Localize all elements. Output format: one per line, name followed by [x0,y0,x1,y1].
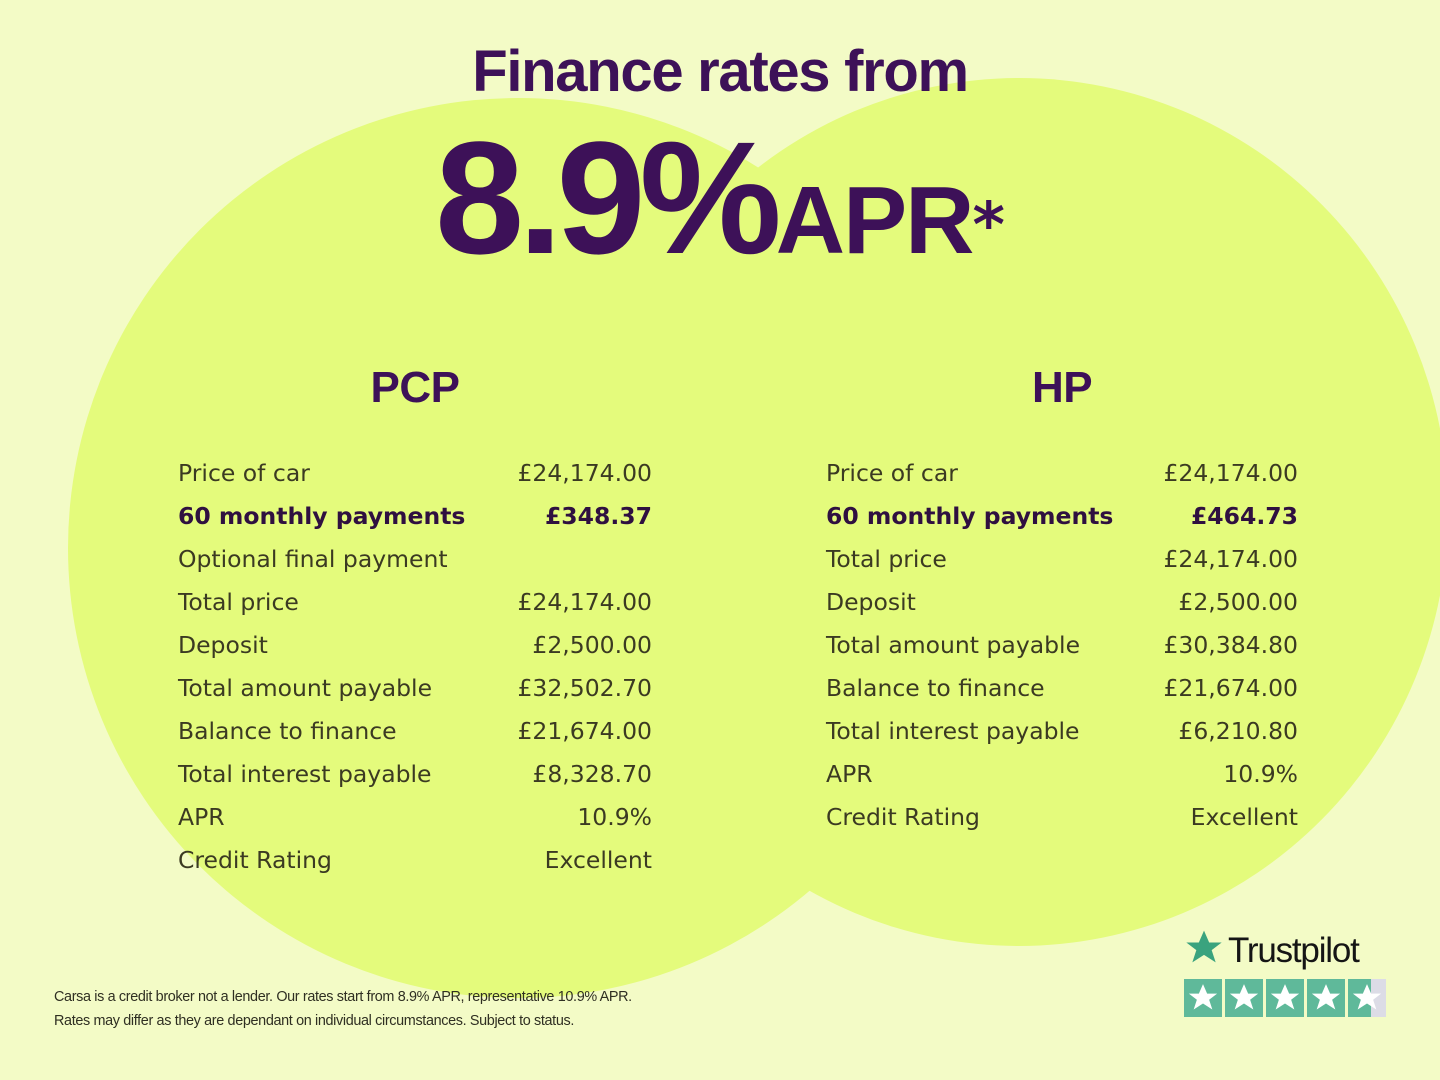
finance-row-label: Total price [178,581,299,624]
finance-row: Total interest payable£6,210.80 [826,710,1298,753]
finance-row-label: Total interest payable [826,710,1080,753]
finance-row-value: Excellent [545,839,652,882]
star-glyph-icon [1310,982,1342,1014]
finance-row: Credit RatingExcellent [178,839,652,882]
finance-row: Price of car£24,174.00 [826,452,1298,495]
finance-row-label: 60 monthly payments [826,495,1113,538]
finance-row-value: £21,674.00 [1163,667,1298,710]
trustpilot-star-icon [1184,928,1224,972]
legal-disclaimer: Carsa is a credit broker not a lender. O… [54,985,814,1033]
finance-row-value: £30,384.80 [1163,624,1298,667]
finance-row: Balance to finance£21,674.00 [178,710,652,753]
finance-row: Total price£24,174.00 [826,538,1298,581]
finance-rows-hp: Price of car£24,174.0060 monthly payment… [826,452,1298,839]
star-glyph-icon [1351,982,1383,1014]
finance-row-value: £2,500.00 [532,624,652,667]
finance-plan-pcp: PCP Price of car£24,174.0060 monthly pay… [178,366,652,882]
finance-row: 60 monthly payments£348.37 [178,495,652,538]
trustpilot-star [1348,979,1386,1017]
plan-title-hp: HP [826,366,1298,410]
finance-row-value: Excellent [1191,796,1298,839]
finance-row: Credit RatingExcellent [826,796,1298,839]
trustpilot-star [1184,979,1222,1017]
finance-row: Price of car£24,174.00 [178,452,652,495]
trustpilot-star [1307,979,1345,1017]
finance-row: Total amount payable£32,502.70 [178,667,652,710]
trustpilot-star [1225,979,1263,1017]
apr-rate-value: 8.9% [435,108,776,287]
finance-row: APR10.9% [826,753,1298,796]
finance-row-value: £24,174.00 [1163,538,1298,581]
apr-suffix-label: APR [776,167,973,274]
finance-row-value: £32,502.70 [517,667,652,710]
finance-row-label: Deposit [178,624,268,667]
finance-row: Total price£24,174.00 [178,581,652,624]
trustpilot-rating[interactable]: Trustpilot [1184,928,1394,1017]
finance-row-label: Balance to finance [178,710,397,753]
finance-row-label: APR [826,753,873,796]
finance-row-label: Optional final payment [178,538,448,581]
finance-row: 60 monthly payments£464.73 [826,495,1298,538]
finance-row-value: £8,328.70 [532,753,652,796]
finance-row-label: Deposit [826,581,916,624]
star-glyph-icon [1228,982,1260,1014]
finance-row-value: 10.9% [577,796,652,839]
finance-row-label: Price of car [826,452,958,495]
trustpilot-star [1266,979,1304,1017]
finance-row-value: £6,210.80 [1178,710,1298,753]
plan-title-pcp: PCP [178,366,652,410]
finance-row-label: Balance to finance [826,667,1045,710]
page-title: Finance rates from [0,38,1440,105]
finance-row-label: Total price [826,538,947,581]
finance-plan-hp: HP Price of car£24,174.0060 monthly paym… [826,366,1298,839]
finance-row-label: Credit Rating [178,839,332,882]
finance-row-label: Total amount payable [178,667,432,710]
trustpilot-wordmark: Trustpilot [1228,933,1359,968]
finance-row-label: Total amount payable [826,624,1080,667]
finance-row-value: £348.37 [545,495,652,538]
finance-row-label: Credit Rating [826,796,980,839]
finance-row: Total interest payable£8,328.70 [178,753,652,796]
trustpilot-brand: Trustpilot [1184,928,1394,972]
apr-headline: 8.9%APR* [0,118,1440,278]
finance-row: Optional final payment [178,538,652,581]
star-glyph-icon [1269,982,1301,1014]
apr-asterisk: * [972,189,1004,262]
finance-row-value: £24,174.00 [517,452,652,495]
finance-row-value: £2,500.00 [1178,581,1298,624]
finance-row-label: Price of car [178,452,310,495]
finance-row-label: APR [178,796,225,839]
finance-row: Total amount payable£30,384.80 [826,624,1298,667]
finance-row-value: £24,174.00 [517,581,652,624]
finance-row-label: 60 monthly payments [178,495,465,538]
finance-rates-graphic: Finance rates from 8.9%APR* PCP Price of… [0,0,1440,1080]
star-glyph-icon [1187,982,1219,1014]
finance-row: Deposit£2,500.00 [826,581,1298,624]
finance-row-value: £464.73 [1191,495,1298,538]
disclaimer-line-1: Carsa is a credit broker not a lender. O… [54,985,814,1009]
finance-row-value: £24,174.00 [1163,452,1298,495]
finance-row: Deposit£2,500.00 [178,624,652,667]
finance-row: Balance to finance£21,674.00 [826,667,1298,710]
finance-row-value: £21,674.00 [517,710,652,753]
finance-row: APR10.9% [178,796,652,839]
finance-rows-pcp: Price of car£24,174.0060 monthly payment… [178,452,652,882]
trustpilot-star-rating [1184,979,1394,1017]
disclaimer-line-2: Rates may differ as they are dependant o… [54,1009,814,1033]
finance-row-value: 10.9% [1223,753,1298,796]
finance-row-label: Total interest payable [178,753,432,796]
